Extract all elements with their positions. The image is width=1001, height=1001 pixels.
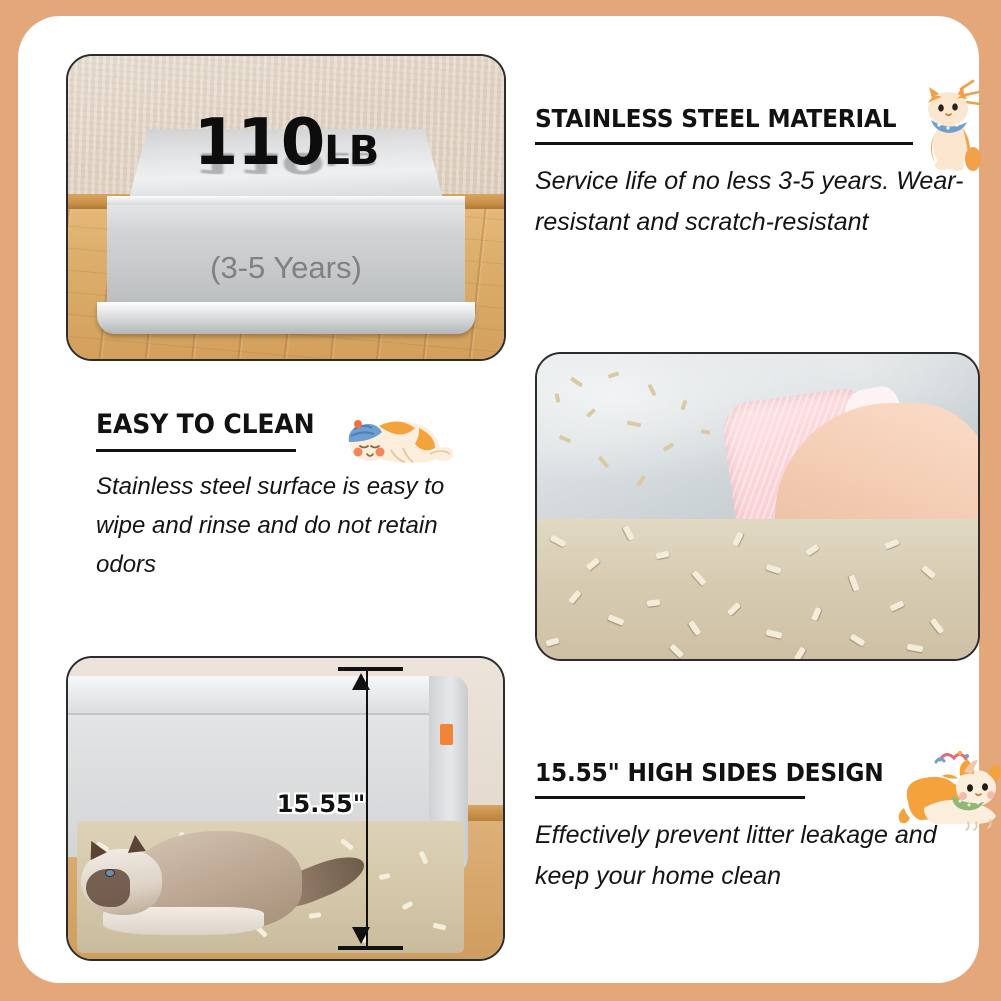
- tofu-cat-litter: [537, 519, 978, 659]
- cat-ear-right: [126, 834, 146, 853]
- sitting-cat-blue-bandana-icon: [911, 73, 989, 173]
- box-bottom-lip: [97, 302, 476, 334]
- litter-box-rim: [66, 676, 460, 715]
- ragdoll-cat: [81, 809, 351, 935]
- product-feature-infographic: 110LB 110LB (3-5 Years) STAINLESS STEEL …: [0, 0, 1001, 1001]
- weight-capacity-label: 110LB: [68, 111, 504, 175]
- feature-block-material: STAINLESS STEEL MATERIAL Service life of…: [535, 104, 975, 242]
- easy-clean-photo-panel: [535, 352, 980, 661]
- heading-underline: [96, 449, 296, 452]
- infographic-card: 110LB 110LB (3-5 Years) STAINLESS STEEL …: [18, 16, 979, 983]
- sleeping-cat-nightcap-icon: [333, 404, 453, 470]
- heading-underline: [535, 796, 805, 799]
- weight-unit: LB: [324, 128, 378, 174]
- dimension-cap-bottom: [338, 946, 403, 950]
- dimension-arrow-down: [352, 927, 370, 944]
- feature-body-clean: Stainless steel surface is easy to wipe …: [96, 468, 496, 585]
- feature-body-material: Service life of no less 3-5 years. Wear-…: [535, 161, 975, 242]
- lifespan-note: (3-5 Years): [68, 250, 504, 286]
- cat-eye: [105, 869, 115, 877]
- dimension-cap-top: [338, 667, 403, 671]
- heading-underline: [535, 142, 913, 145]
- high-sides-photo-panel: 15.55": [66, 656, 505, 961]
- durability-photo-panel: 110LB 110LB (3-5 Years): [66, 54, 506, 361]
- feature-heading-sides: 15.55" HIGH SIDES DESIGN: [535, 758, 944, 787]
- feature-heading-material: STAINLESS STEEL MATERIAL: [535, 104, 944, 133]
- dimension-label: 15.55": [277, 790, 365, 818]
- weight-value: 110: [194, 106, 325, 180]
- dimension-line: [366, 667, 368, 950]
- orange-clip: [440, 724, 453, 745]
- dimension-arrow-up: [352, 673, 370, 690]
- lying-cat-green-bandana-icon: [894, 746, 1001, 834]
